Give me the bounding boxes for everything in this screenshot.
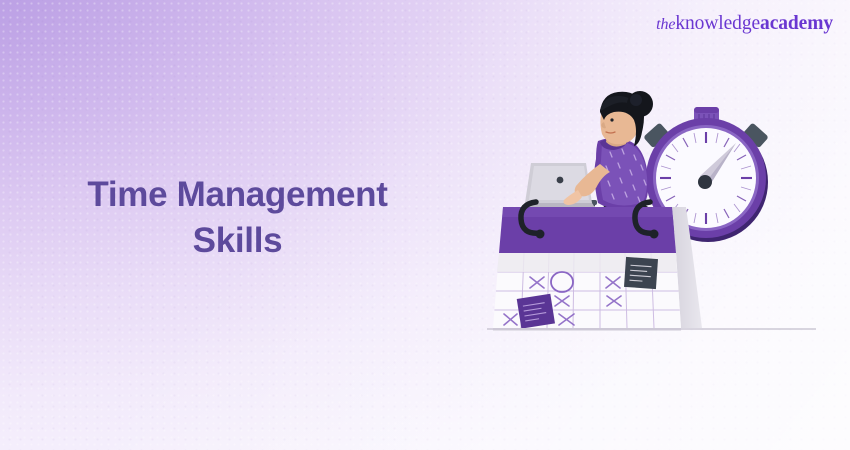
the-knowledge-academy-logo[interactable]: theknowledgeacademy <box>656 14 833 34</box>
headline-line-2: Skills <box>0 218 475 264</box>
purple-sticky-note <box>517 294 555 329</box>
page-title: Time Management Skills <box>0 172 475 263</box>
logo-word-the: the <box>656 16 675 33</box>
desk-calendar <box>486 202 702 331</box>
logo-word-knowledge: knowledge <box>675 13 760 34</box>
dark-sticky-note <box>624 257 658 289</box>
banner-canvas: theknowledgeacademy Time Management Skil… <box>0 0 850 450</box>
stopwatch-hub <box>698 175 712 189</box>
headline-line-1: Time Management <box>87 175 387 214</box>
laptop-logo-icon <box>557 177 564 184</box>
logo-word-academy: academy <box>760 13 833 34</box>
